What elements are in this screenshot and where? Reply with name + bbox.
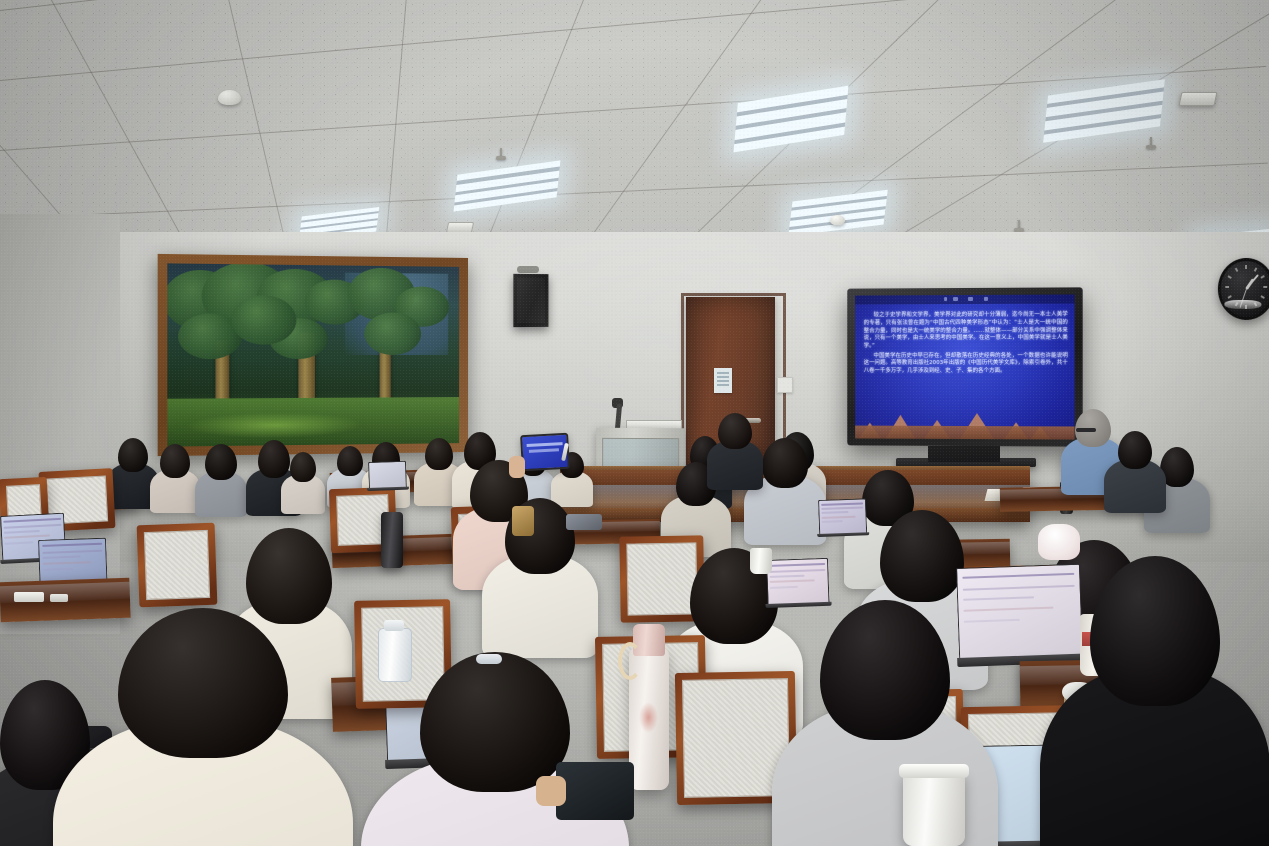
- attendee-hair: [246, 528, 332, 624]
- lecture-room-photo: 较之于史学界和文学界，美学界对此的研究却十分薄弱，迄今尚无一本士人美学的专著，只…: [0, 0, 1269, 846]
- eyeglasses-icon: [1076, 428, 1096, 432]
- white-cup-mid: [750, 548, 772, 574]
- tablet-slide-preview-line: [529, 449, 559, 453]
- paper-cup-lid: [899, 764, 969, 778]
- attendee-hair: [258, 440, 290, 478]
- tissue-pack: [1038, 524, 1080, 560]
- laptop-ui-row: [822, 520, 843, 523]
- laptop-ui-titlebar: [962, 573, 1074, 579]
- laptop-ui-row: [963, 607, 1053, 612]
- phone-on-desk: [566, 514, 602, 530]
- attendee-hair: [718, 413, 752, 449]
- attendee-hair: [880, 510, 964, 602]
- attendee-hair: [160, 444, 190, 478]
- white-paper-cup: [903, 772, 965, 846]
- laptop-ui-row: [770, 569, 825, 573]
- pink-vacuum-flask: [629, 648, 669, 790]
- laptop-ui-row: [964, 619, 1020, 623]
- laptop-screen[interactable]: [956, 564, 1083, 659]
- flask-floral-decal: [639, 702, 657, 733]
- tablet-slide-preview-line: [527, 442, 562, 447]
- charger-brick: [14, 592, 44, 602]
- laptop-ui-titlebar: [770, 563, 825, 567]
- hand-holding-phone: [536, 776, 566, 806]
- clear-water-tumbler: [378, 628, 412, 682]
- attendee-hair: [118, 438, 148, 472]
- laptop-ui-row: [821, 511, 848, 514]
- laptop-ui-titlebar: [821, 502, 863, 505]
- attendee-hair: [762, 438, 808, 488]
- tumbler-lid: [384, 620, 404, 631]
- flask-handle: [618, 642, 642, 680]
- laptop-ui-titlebar: [4, 518, 61, 523]
- laptop-ui-row: [770, 585, 798, 588]
- laptop-base: [766, 602, 832, 609]
- furniture-and-people-layer: KANGOL: [0, 0, 1269, 846]
- foreground-phone: [556, 762, 634, 820]
- attendee-hair: [1118, 431, 1152, 469]
- laptop-ui-row: [963, 585, 1075, 591]
- laptop-ui-row: [770, 580, 814, 584]
- laptop-ui-row: [42, 555, 80, 558]
- chair-midleft: [137, 523, 218, 608]
- hand-holding-tablet: [509, 456, 525, 478]
- cable-adapter: [50, 594, 68, 602]
- hair-clip: [512, 506, 534, 536]
- laptop-ui-row: [43, 568, 73, 571]
- laptop-ui-row: [821, 515, 855, 518]
- laptop-ui-row: [963, 596, 1034, 600]
- laptop-screen[interactable]: [368, 461, 407, 489]
- laptop-ui-row: [4, 529, 40, 533]
- attendee-hair: [337, 446, 363, 476]
- laptop-ui-row: [5, 535, 51, 539]
- laptop-ui-row: [821, 507, 863, 510]
- laptop-ui-row: [770, 574, 805, 577]
- laptop-screen[interactable]: [818, 498, 867, 535]
- hair-tie: [476, 654, 502, 664]
- attendee-hair: [425, 438, 453, 470]
- chair-cushion-panel: [144, 530, 210, 600]
- laptop-ui-row: [42, 549, 103, 553]
- attendee-hair: [205, 444, 237, 480]
- chair-cushion-panel: [626, 542, 697, 615]
- laptop-ui-row: [4, 523, 61, 528]
- laptop-screen[interactable]: [766, 558, 830, 605]
- laptop-ui-row: [42, 561, 91, 565]
- laptop-ui-row: [5, 541, 34, 544]
- laptop-ui-titlebar: [42, 543, 103, 547]
- attendee-hair: [290, 452, 316, 482]
- black-travel-mug: [381, 512, 403, 568]
